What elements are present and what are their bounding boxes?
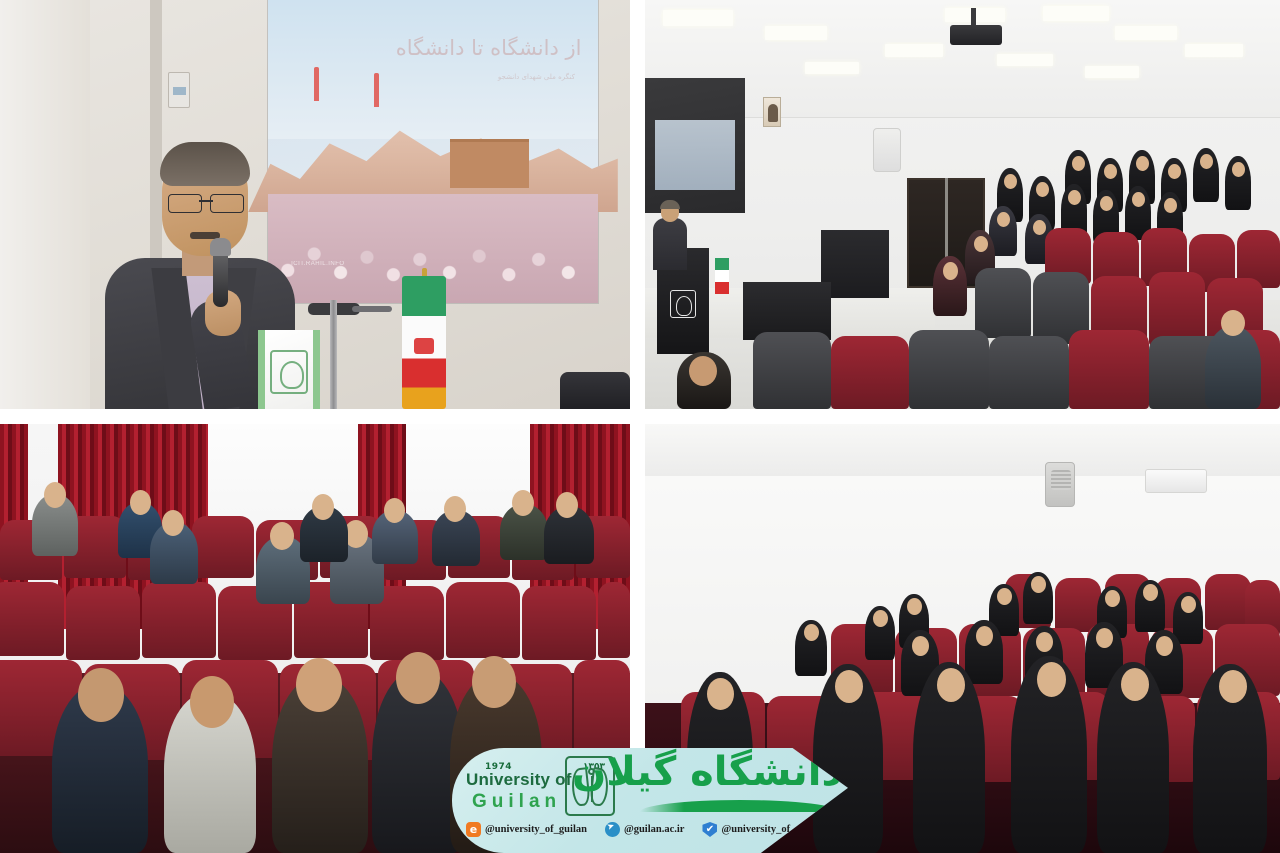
pennant-emblem — [270, 350, 308, 394]
telegram-handle: @guilan.ac.ir — [624, 824, 685, 835]
social-eitaa[interactable]: e @university_of_guilan — [466, 822, 587, 837]
bale-icon: ✔ — [702, 822, 717, 837]
projected-image — [655, 120, 735, 190]
photo-top-right — [645, 0, 1280, 409]
projection-screen: از دانشگاه تا دانشگاه کنگره ملی شهدای دا… — [268, 0, 598, 303]
mic-stand-pole — [330, 300, 337, 409]
podium-emblem — [670, 290, 696, 318]
university-name-line1: University of — [466, 770, 572, 790]
university-name-persian: دانشگاه گیلان — [572, 752, 842, 792]
door-frame — [150, 0, 162, 300]
eitaa-icon: e — [466, 822, 481, 837]
wall-speaker — [1045, 462, 1075, 507]
speaker-hair — [660, 200, 680, 209]
air-conditioner — [1145, 469, 1207, 493]
photo-top-left: از دانشگاه تا دانشگاه کنگره ملی شهدای دا… — [0, 0, 630, 409]
equipment-cabinet — [821, 230, 889, 298]
iran-flag-emblem — [414, 338, 434, 354]
chair — [560, 372, 630, 409]
wall-speaker — [873, 128, 901, 172]
social-telegram[interactable]: @guilan.ac.ir — [605, 822, 685, 837]
desk-iran-flag — [715, 258, 729, 294]
university-name-line2: Guilan — [472, 791, 561, 813]
eyeglasses-bridge — [199, 200, 213, 202]
eyeglasses-icon — [168, 194, 244, 211]
photo-collage: از دانشگاه تا دانشگاه کنگره ملی شهدای دا… — [0, 0, 1280, 853]
telegram-icon — [605, 822, 620, 837]
calligraphy-swash — [640, 800, 840, 812]
wall-portrait — [763, 97, 781, 127]
speaker-hair — [160, 142, 250, 186]
wall-switch-panel — [168, 72, 190, 108]
slide-watermark: ICIT.RAHIL.INFO — [291, 261, 345, 267]
speaker-body — [653, 218, 687, 270]
slide-title: از دانشگاه تا دانشگاه — [396, 36, 582, 60]
mic-stand-arm — [352, 306, 392, 312]
wall-pillar — [0, 0, 90, 409]
slide-subtitle: کنگره ملی شهدای دانشجو — [498, 73, 575, 81]
social-handles: e @university_of_guilan @guilan.ac.ir ✔ … — [466, 822, 823, 837]
eitaa-handle: @university_of_guilan — [485, 824, 587, 835]
ceiling-projector — [950, 25, 1002, 45]
microphone-head — [210, 238, 231, 256]
